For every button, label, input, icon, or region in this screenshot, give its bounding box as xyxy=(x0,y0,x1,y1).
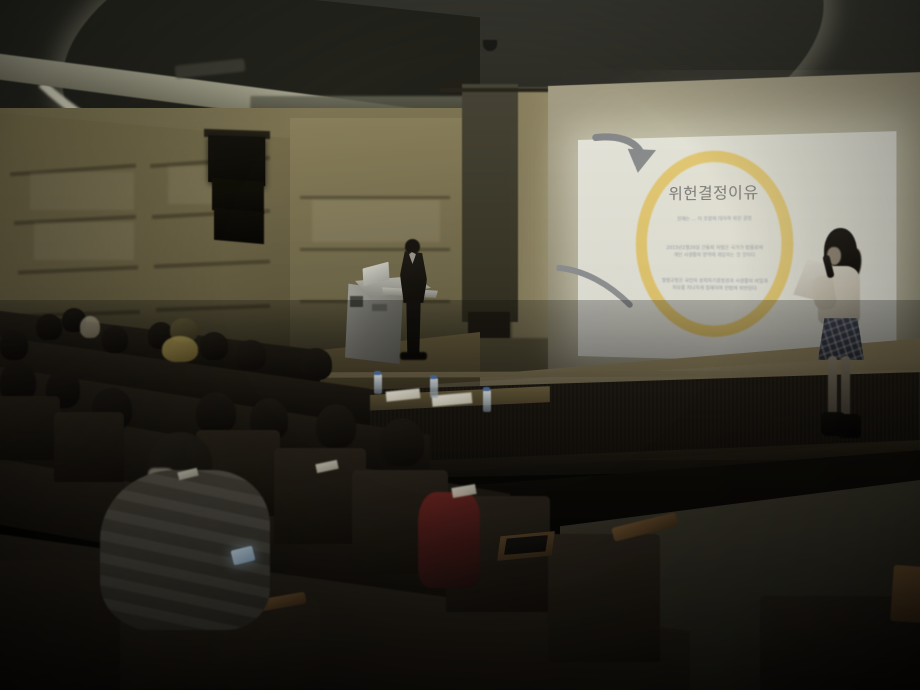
acoustic-panel-seam xyxy=(300,248,450,251)
slide-body-line-1: 헌재는 … 이 조항에 대하여 위헌 결정 xyxy=(650,216,780,224)
water-bottle xyxy=(483,390,491,412)
audience-member xyxy=(380,418,424,466)
audience-member xyxy=(80,316,100,338)
audience-member-yellow-top xyxy=(162,336,198,362)
slide-title: 위헌결정이유 xyxy=(636,180,794,204)
audience-member xyxy=(200,332,228,360)
acoustic-panel-face xyxy=(34,222,134,260)
water-bottle-cap xyxy=(483,387,490,391)
audience-member xyxy=(316,404,356,448)
auditorium-seat xyxy=(548,534,660,662)
wall-dark-column xyxy=(462,84,518,322)
audience-member-red-jacket xyxy=(418,492,480,588)
audience-member xyxy=(236,340,266,370)
auditorium-seat xyxy=(0,396,60,460)
wall-rail xyxy=(440,88,552,92)
acoustic-panel-face xyxy=(312,200,440,242)
audience-member xyxy=(102,326,128,353)
water-bottle-cap xyxy=(430,375,437,379)
acoustic-panel-seam xyxy=(300,196,450,199)
curved-arrow-top-icon xyxy=(592,132,662,186)
seat-armrest xyxy=(890,565,920,623)
auditorium-photo: 위헌결정이유 헌재는 … 이 조항에 대하여 위헌 결정 2015년2월26일 … xyxy=(0,0,920,690)
slide-body-line-3: 형벌규정은 국민의 성적자기결정권과 사생활의 비밀과 자유를 지나치게 침해하… xyxy=(648,279,783,294)
water-bottle-cap xyxy=(374,371,381,375)
water-bottle xyxy=(374,374,382,394)
water-bottle xyxy=(430,378,438,398)
audience-member xyxy=(0,330,28,360)
audience-member xyxy=(36,314,62,340)
audience-member xyxy=(196,392,236,434)
slide-body-line-2: 2015년2월26일 간통죄 처벌은 국가가 법률로써 개인 사생활의 영역에 … xyxy=(648,246,783,260)
auditorium-seat xyxy=(54,412,124,482)
ceiling-loudspeaker-module xyxy=(214,208,264,244)
acoustic-panel-face xyxy=(30,172,134,210)
audience-member xyxy=(300,348,332,380)
